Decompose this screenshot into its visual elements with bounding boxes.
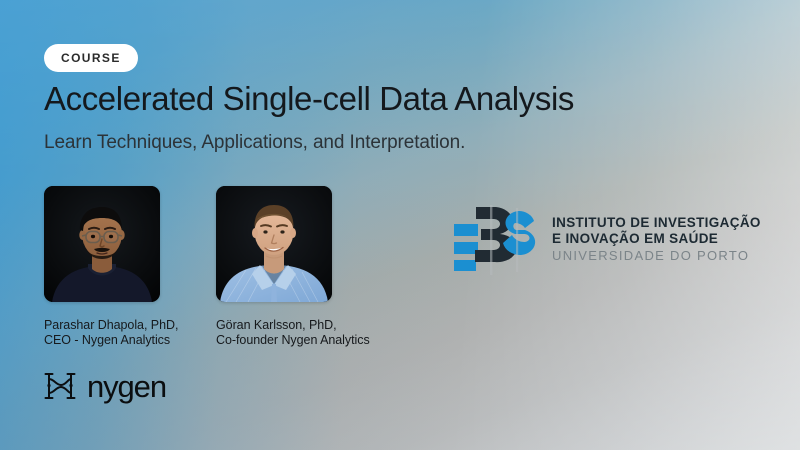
partner-logo-line-3: UNIVERSIDADE DO PORTO: [552, 247, 761, 265]
partner-logo-text: INSTITUTO DE INVESTIGAÇÃO E INOVAÇÃO EM …: [552, 215, 761, 265]
speaker-photo-1: [44, 186, 160, 302]
page-title: Accelerated Single-cell Data Analysis: [44, 80, 574, 118]
i3s-logo-mark-icon: [452, 202, 538, 278]
course-promo-banner: COURSE Accelerated Single-cell Data Anal…: [0, 0, 800, 450]
course-badge-label: COURSE: [61, 51, 121, 65]
partner-logo-i3s: INSTITUTO DE INVESTIGAÇÃO E INOVAÇÃO EM …: [452, 202, 761, 278]
avatar-portrait-parashar-icon: [44, 186, 160, 302]
speaker-name-2: Göran Karlsson, PhD,: [216, 318, 370, 333]
partner-logo-line-1: INSTITUTO DE INVESTIGAÇÃO: [552, 215, 761, 231]
speaker-caption-2: Göran Karlsson, PhD, Co-founder Nygen An…: [216, 318, 370, 348]
partner-logo-line-2: E INOVAÇÃO EM SAÚDE: [552, 231, 761, 247]
speaker-role-2: Co-founder Nygen Analytics: [216, 333, 370, 348]
avatar-portrait-goran-icon: [216, 186, 332, 302]
nygen-wordmark: nygen: [87, 371, 166, 402]
nygen-n-mark-icon: [44, 368, 78, 404]
speaker-name-1: Parashar Dhapola, PhD,: [44, 318, 178, 333]
page-subtitle: Learn Techniques, Applications, and Inte…: [44, 132, 465, 154]
speaker-caption-1: Parashar Dhapola, PhD, CEO - Nygen Analy…: [44, 318, 178, 348]
brand-logo-nygen: nygen: [44, 368, 166, 404]
course-badge: COURSE: [44, 44, 138, 72]
speaker-role-1: CEO - Nygen Analytics: [44, 333, 178, 348]
speaker-photo-2: [216, 186, 332, 302]
banner-content: COURSE Accelerated Single-cell Data Anal…: [0, 0, 800, 450]
